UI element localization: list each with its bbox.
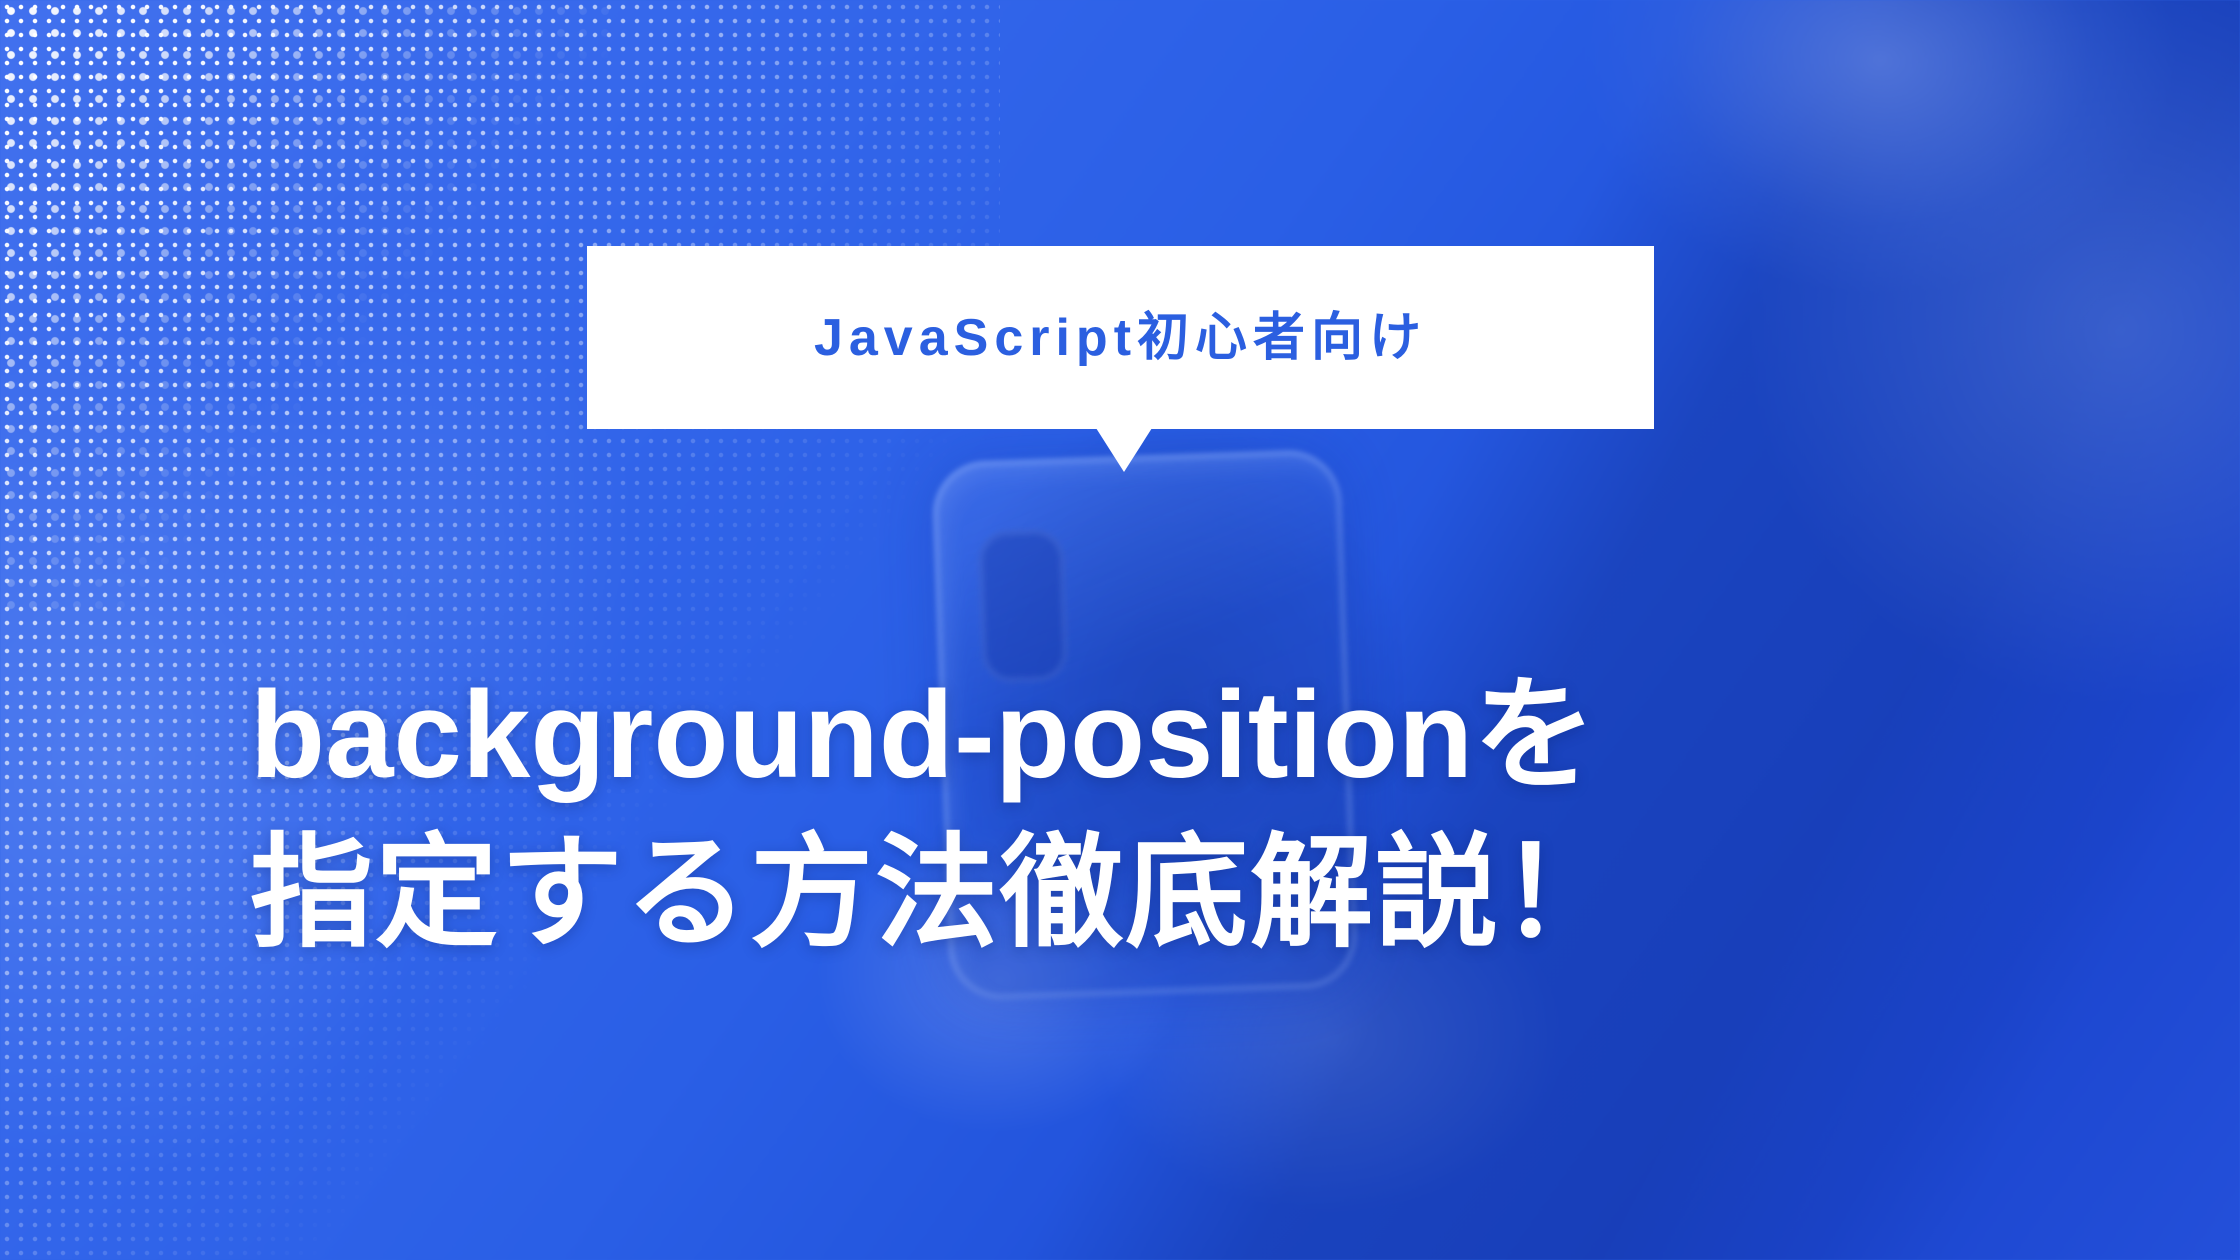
- page-title: background-positionを 指定する方法徹底解説！: [250, 657, 2010, 972]
- speech-bubble-tail-icon: [1096, 428, 1152, 472]
- page-title-line-1: background-positionを: [250, 657, 2010, 814]
- category-badge: JavaScript初心者向け: [587, 246, 1654, 429]
- page-title-line-2: 指定する方法徹底解説！: [250, 815, 2010, 972]
- article-thumbnail-card: JavaScript初心者向け background-positionを 指定す…: [0, 0, 2240, 1260]
- category-badge-label: JavaScript初心者向け: [814, 312, 1427, 364]
